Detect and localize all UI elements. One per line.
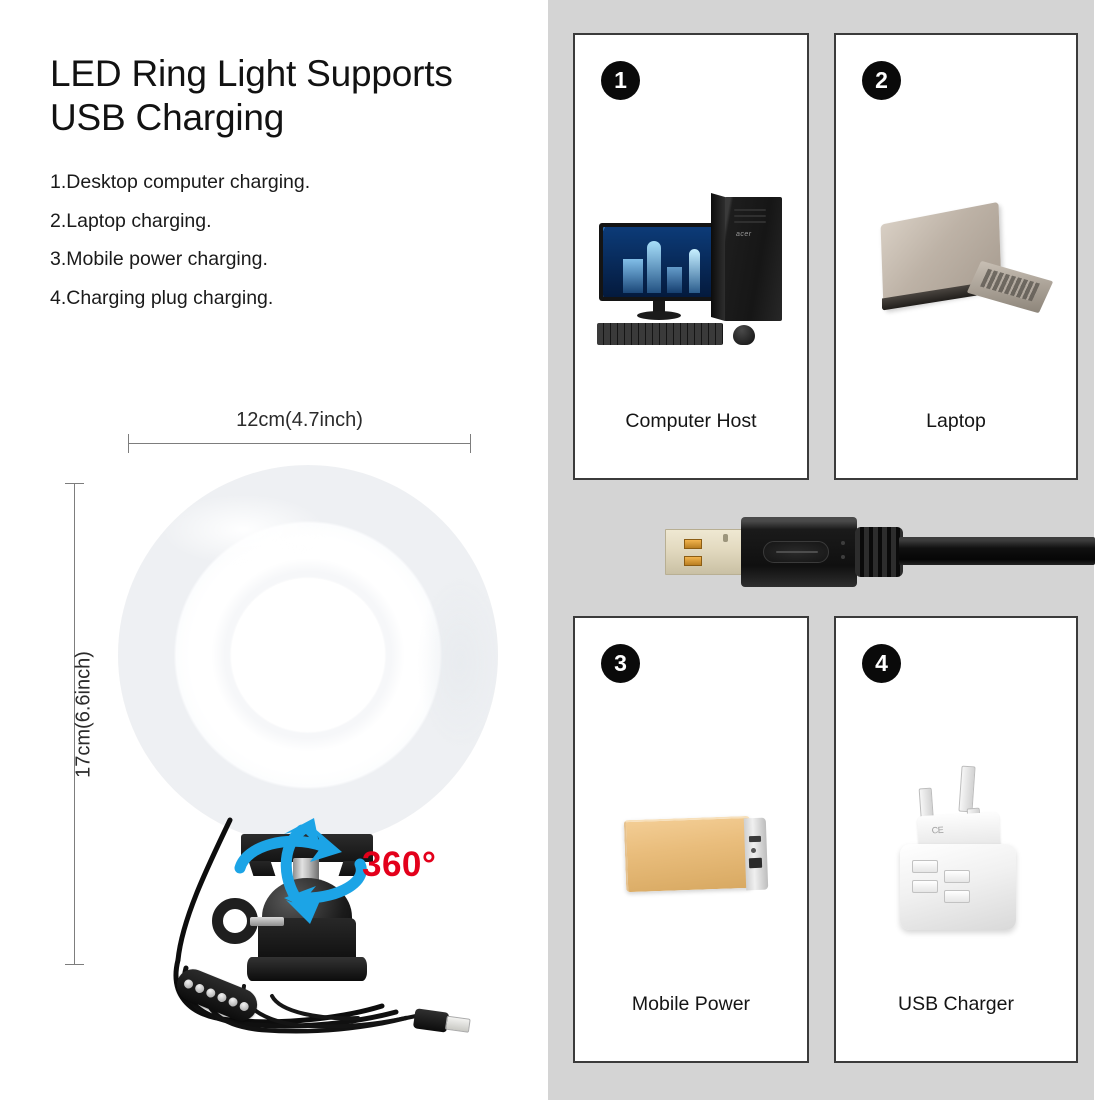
usb-plug-housing bbox=[741, 517, 857, 587]
usb-strain-relief bbox=[855, 527, 903, 577]
charger-usb-port-4 bbox=[944, 890, 970, 903]
remote-button-5[interactable] bbox=[227, 996, 239, 1008]
usb-cable bbox=[899, 537, 1095, 565]
charger-usb-port-group bbox=[912, 860, 974, 918]
usb-plug-tip bbox=[445, 1016, 471, 1033]
remote-button-6[interactable] bbox=[238, 1000, 250, 1012]
power-bank-body bbox=[624, 816, 752, 892]
plug-pin-top bbox=[958, 766, 975, 813]
card-number-badge-1: 1 bbox=[601, 61, 640, 100]
screen-building-d bbox=[667, 267, 682, 293]
power-bank-led bbox=[751, 848, 756, 853]
screen-building-a bbox=[623, 259, 643, 293]
tower-drive-bay-1 bbox=[734, 209, 766, 211]
usb-housing-dot-1 bbox=[841, 541, 845, 545]
usb-shell-notch bbox=[723, 534, 728, 542]
charging-option-card-2[interactable]: 2 Laptop bbox=[834, 33, 1078, 480]
charging-options-panel: 1 bbox=[548, 0, 1094, 1100]
infographic-page: LED Ring Light Supports USB Charging 1.D… bbox=[0, 0, 1100, 1100]
keyboard-icon bbox=[597, 323, 723, 345]
usb-cable-graphic bbox=[120, 810, 500, 1075]
charger-usb-port-2 bbox=[912, 880, 938, 893]
card-number-badge-3: 3 bbox=[601, 644, 640, 683]
power-bank-micro-usb-port bbox=[749, 836, 761, 842]
power-bank-side-panel bbox=[744, 818, 768, 891]
charger-usb-port-1 bbox=[912, 860, 938, 873]
usb-contact-1 bbox=[684, 539, 702, 549]
ring-light-halo bbox=[118, 465, 498, 845]
card-label-2: Laptop bbox=[836, 410, 1076, 433]
power-bank-usb-port bbox=[749, 858, 762, 868]
charger-usb-port-3 bbox=[944, 870, 970, 883]
tower-drive-bay-3 bbox=[734, 221, 766, 223]
power-bank-icon bbox=[575, 696, 807, 966]
usb-wall-charger-icon: CE bbox=[836, 696, 1076, 966]
card-number-badge-4: 4 bbox=[862, 644, 901, 683]
monitor-icon bbox=[599, 223, 719, 301]
remote-button-2[interactable] bbox=[194, 982, 206, 994]
remote-button-4[interactable] bbox=[216, 991, 228, 1003]
card-label-4: USB Charger bbox=[836, 993, 1076, 1016]
card-label-1: Computer Host bbox=[575, 410, 807, 433]
laptop-icon bbox=[836, 113, 1076, 383]
charger-certification-mark: CE bbox=[932, 825, 944, 836]
charging-option-card-1[interactable]: 1 bbox=[573, 33, 809, 480]
screen-building-b bbox=[647, 241, 661, 293]
mouse-icon bbox=[733, 325, 755, 345]
ring-light-product-image: 360° bbox=[0, 0, 548, 1100]
charging-option-card-3[interactable]: 3 Mobile Power bbox=[573, 616, 809, 1063]
left-info-panel: LED Ring Light Supports USB Charging 1.D… bbox=[0, 0, 548, 1100]
usb-metal-shell bbox=[665, 529, 743, 575]
monitor-screen bbox=[603, 227, 715, 297]
screen-building-c bbox=[689, 249, 700, 293]
monitor-stand-foot bbox=[637, 311, 681, 320]
pc-tower-icon: acer bbox=[724, 197, 782, 321]
usb-contact-2 bbox=[684, 556, 702, 566]
remote-button-3[interactable] bbox=[205, 987, 217, 999]
card-label-3: Mobile Power bbox=[575, 993, 807, 1016]
desktop-computer-icon: acer bbox=[575, 113, 807, 383]
tower-side-panel bbox=[711, 193, 725, 321]
card-number-badge-2: 2 bbox=[862, 61, 901, 100]
tower-brand-mark: acer bbox=[736, 231, 752, 238]
usb-trident-logo-icon bbox=[763, 541, 829, 563]
charging-option-card-4[interactable]: 4 CE USB C bbox=[834, 616, 1078, 1063]
tower-drive-bay-2 bbox=[734, 215, 766, 217]
remote-button-1[interactable] bbox=[183, 978, 195, 990]
usb-housing-dot-2 bbox=[841, 555, 845, 559]
usb-a-connector-icon bbox=[665, 513, 1095, 589]
